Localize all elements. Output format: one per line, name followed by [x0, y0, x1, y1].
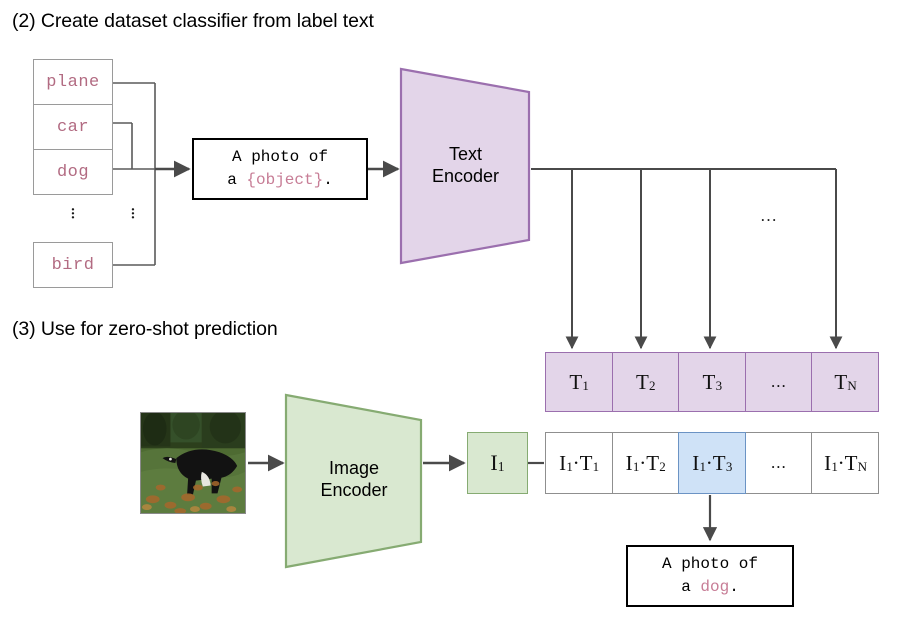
prompt-object-slot: {object}: [246, 171, 323, 189]
text-embedding-symbol: T: [636, 370, 649, 395]
input-photo[interactable]: [140, 412, 246, 514]
text-embedding-cell-n[interactable]: TN: [811, 352, 879, 412]
sim-right-symbol: T: [845, 451, 858, 476]
similarity-cell-ellipsis: ...: [745, 432, 813, 494]
sim-right-subscript: 1: [593, 459, 600, 475]
similarity-cell-1[interactable]: I1·T1: [545, 432, 613, 494]
image-embedding-symbol: I: [490, 450, 497, 476]
text-encoder-block[interactable]: Text Encoder: [398, 66, 533, 266]
input-photo-image: [141, 413, 245, 513]
ellipsis-text: ...: [771, 453, 787, 473]
sim-operator: ·: [639, 451, 646, 476]
text-embedding-subscript: 1: [582, 378, 589, 394]
sim-right-symbol: T: [580, 451, 593, 476]
label-bracket: [113, 83, 155, 265]
sim-left-subscript: 1: [831, 459, 838, 475]
label-box-plane[interactable]: plane: [33, 59, 113, 105]
dot: ·: [118, 216, 148, 220]
prediction-line-2: a dog.: [681, 576, 739, 599]
label-box-car[interactable]: car: [33, 104, 113, 150]
similarity-cell-2[interactable]: I1·T2: [612, 432, 680, 494]
prompt-line-2: a {object}.: [227, 169, 333, 192]
prediction-line-2-suffix: .: [729, 578, 739, 596]
label-text: car: [57, 118, 89, 137]
sim-left-subscript: 1: [566, 459, 573, 475]
image-embedding-box[interactable]: I1: [467, 432, 528, 494]
prediction-box[interactable]: A photo of a dog.: [626, 545, 794, 607]
text-encoder-shape: [398, 66, 533, 266]
image-encoder-block[interactable]: Image Encoder: [283, 392, 425, 570]
sim-operator: ·: [706, 451, 713, 476]
text-embedding-cell-ellipsis: ...: [745, 352, 813, 412]
text-embedding-symbol: T: [834, 370, 847, 395]
text-embedding-symbol: T: [569, 370, 582, 395]
similarity-row: I1·T1 I1·T2 I1·T3 ... I1·TN: [545, 432, 879, 494]
similarity-cell-n[interactable]: I1·TN: [811, 432, 879, 494]
label-text: dog: [57, 163, 89, 182]
sim-left-subscript: 1: [633, 459, 640, 475]
sim-left-subscript: 1: [700, 459, 707, 475]
prompt-template-box[interactable]: A photo of a {object}.: [192, 138, 368, 200]
dot: ·: [58, 216, 88, 220]
sim-operator: ·: [838, 451, 845, 476]
sim-right-subscript: N: [858, 459, 867, 475]
text-embedding-subscript: N: [847, 378, 856, 394]
image-embedding-subscript: 1: [498, 459, 505, 475]
text-embedding-subscript: 3: [716, 378, 723, 394]
prompt-line-2-prefix: a: [227, 171, 246, 189]
text-bus-ellipsis: …: [760, 206, 778, 226]
label-list-ellipsis-right: · · ·: [118, 208, 148, 220]
sim-left-symbol: I: [559, 451, 566, 476]
text-encoder-bus: [531, 169, 836, 348]
prediction-line-2-prefix: a: [681, 578, 700, 596]
sim-left-symbol: I: [824, 451, 831, 476]
figure-canvas: (2) Create dataset classifier from label…: [0, 0, 906, 624]
text-embedding-symbol: T: [703, 370, 716, 395]
label-box-dog[interactable]: dog: [33, 149, 113, 195]
prediction-class-name: dog: [700, 578, 729, 596]
prediction-line-1: A photo of: [662, 553, 758, 576]
text-embedding-cell-1[interactable]: T1: [545, 352, 613, 412]
sim-right-symbol: T: [713, 451, 726, 476]
text-embedding-subscript: 2: [649, 378, 656, 394]
prompt-line-1: A photo of: [232, 146, 328, 169]
similarity-cell-3-selected[interactable]: I1·T3: [678, 432, 746, 494]
section-heading-2: (2) Create dataset classifier from label…: [12, 10, 374, 33]
label-list-ellipsis-left: · · ·: [58, 208, 88, 220]
sim-right-subscript: 2: [659, 459, 666, 475]
label-text: bird: [52, 256, 95, 275]
text-embeddings-row: T1 T2 T3 ... TN: [545, 352, 879, 412]
label-box-bird[interactable]: bird: [33, 242, 113, 288]
sim-right-subscript: 3: [726, 459, 733, 475]
label-text: plane: [46, 73, 100, 92]
sim-operator: ·: [573, 451, 580, 476]
text-embedding-cell-2[interactable]: T2: [612, 352, 680, 412]
sim-left-symbol: I: [626, 451, 633, 476]
ellipsis-text: ...: [771, 372, 787, 392]
prompt-line-2-suffix: .: [323, 171, 333, 189]
image-encoder-shape: [283, 392, 425, 570]
text-embedding-cell-3[interactable]: T3: [678, 352, 746, 412]
sim-left-symbol: I: [692, 451, 699, 476]
sim-right-symbol: T: [646, 451, 659, 476]
section-heading-3: (3) Use for zero-shot prediction: [12, 318, 278, 341]
